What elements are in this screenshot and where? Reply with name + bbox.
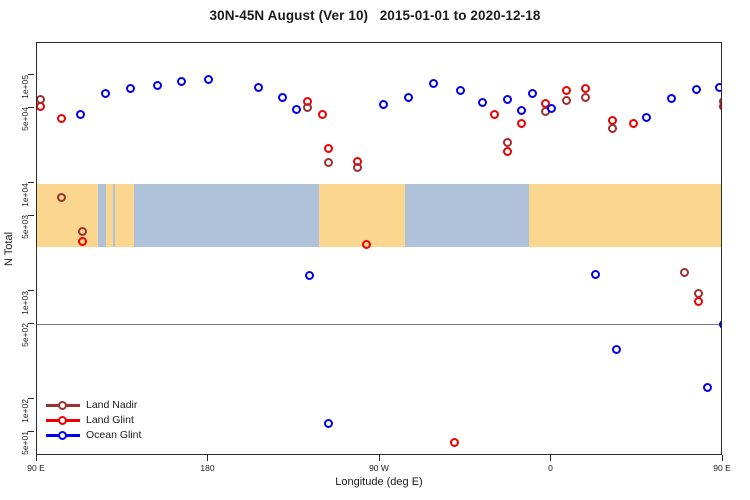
y-axis-label-text: N Total xyxy=(3,231,15,265)
legend-item-land-nadir[interactable]: Land Nadir xyxy=(46,398,141,413)
scatter-point xyxy=(591,270,600,279)
chart-title: 30N-45N August (Ver 10) 2015-01-01 to 20… xyxy=(0,8,750,23)
landmass-region xyxy=(115,184,134,247)
landmass-region xyxy=(106,184,114,247)
scatter-point xyxy=(490,110,499,119)
scatter-point xyxy=(324,158,333,167)
scatter-point xyxy=(324,144,333,153)
legend-item-land-glint[interactable]: Land Glint xyxy=(46,413,141,428)
scatter-point xyxy=(379,100,388,109)
y-axis-label: N Total xyxy=(2,42,16,455)
scatter-point xyxy=(362,240,371,249)
scatter-point xyxy=(719,97,723,106)
landmass-region xyxy=(334,184,364,247)
y-tick-label: 1e+03 xyxy=(20,291,30,315)
scatter-point xyxy=(126,84,135,93)
x-tick-label: 90 E xyxy=(27,463,45,473)
landmass-region xyxy=(365,184,405,247)
scatter-point xyxy=(517,119,526,128)
scatter-point xyxy=(254,83,263,92)
scatter-point xyxy=(456,86,465,95)
plot-area xyxy=(36,42,722,455)
x-axis-label: Longitude (deg E) xyxy=(36,476,722,488)
tick-mark xyxy=(207,455,208,461)
y-tick-label: 5e+01 xyxy=(20,431,30,455)
y-tick-label: 1e+02 xyxy=(20,399,30,423)
y-tick-label: 1e+05 xyxy=(20,75,30,99)
scatter-point xyxy=(562,86,571,95)
y-tick-label: 5e+03 xyxy=(20,215,30,239)
y-tick-label: 1e+04 xyxy=(20,183,30,207)
world-map-band xyxy=(37,184,721,247)
landmass-region xyxy=(62,184,81,247)
scatter-point xyxy=(612,345,621,354)
landmass-region xyxy=(319,184,334,247)
x-tick-label: 0 xyxy=(548,463,553,473)
scatter-point xyxy=(153,81,162,90)
scatter-point xyxy=(503,138,512,147)
scatter-point xyxy=(404,93,413,102)
legend-label: Land Nadir xyxy=(86,400,137,411)
scatter-point xyxy=(177,77,186,86)
scatter-point xyxy=(303,103,312,112)
scatter-point xyxy=(503,147,512,156)
scatter-point xyxy=(694,297,703,306)
scatter-point xyxy=(581,93,590,102)
scatter-point xyxy=(562,96,571,105)
x-tick-label: 90 W xyxy=(369,463,389,473)
x-tick-label: 180 xyxy=(200,463,214,473)
landmass-region xyxy=(546,184,575,247)
legend-label: Land Glint xyxy=(86,415,134,426)
chart-legend: Land NadirLand GlintOcean Glint xyxy=(46,398,141,443)
landmass-region xyxy=(574,184,597,247)
tick-mark xyxy=(722,455,723,461)
scatter-point xyxy=(204,75,213,84)
scatter-point xyxy=(503,95,512,104)
scatter-point xyxy=(528,89,537,98)
scatter-point xyxy=(305,271,314,280)
tick-mark xyxy=(379,455,380,461)
scatter-point xyxy=(517,106,526,115)
scatter-point xyxy=(680,268,689,277)
scatter-point xyxy=(692,85,701,94)
scatter-point xyxy=(703,383,712,392)
scatter-point xyxy=(57,114,66,123)
scatter-point xyxy=(324,419,333,428)
scatter-point xyxy=(450,438,459,447)
x-tick-label: 90 E xyxy=(713,463,731,473)
chart-root: 30N-45N August (Ver 10) 2015-01-01 to 20… xyxy=(0,0,750,500)
scatter-point xyxy=(629,119,638,128)
scatter-point xyxy=(292,105,301,114)
scatter-point xyxy=(278,93,287,102)
scatter-point xyxy=(715,83,722,92)
landmass-region xyxy=(620,184,647,247)
landmass-region xyxy=(597,184,620,247)
scatter-point xyxy=(101,89,110,98)
scatter-point xyxy=(478,98,487,107)
scatter-point xyxy=(608,124,617,133)
legend-label: Ocean Glint xyxy=(86,430,141,441)
tick-mark xyxy=(550,455,551,461)
landmass-region xyxy=(673,184,696,247)
legend-marker-icon xyxy=(46,430,80,441)
scatter-point xyxy=(667,94,676,103)
landmass-region xyxy=(529,184,546,247)
y-tick-label: 5e+04 xyxy=(20,107,30,131)
scatter-point xyxy=(57,193,66,202)
scatter-point xyxy=(76,110,85,119)
legend-marker-icon xyxy=(46,400,80,411)
scatter-point xyxy=(353,163,362,172)
reference-line xyxy=(37,324,721,325)
scatter-point xyxy=(642,113,651,122)
landmass-region xyxy=(647,184,674,247)
tick-mark xyxy=(36,455,37,461)
scatter-point xyxy=(581,84,590,93)
scatter-point xyxy=(318,110,327,119)
legend-item-ocean-glint[interactable]: Ocean Glint xyxy=(46,428,141,443)
legend-marker-icon xyxy=(46,415,80,426)
landmass-region xyxy=(696,184,721,247)
scatter-point xyxy=(547,104,556,113)
y-tick-label: 5e+02 xyxy=(20,323,30,347)
scatter-point xyxy=(719,320,723,329)
scatter-point xyxy=(429,79,438,88)
